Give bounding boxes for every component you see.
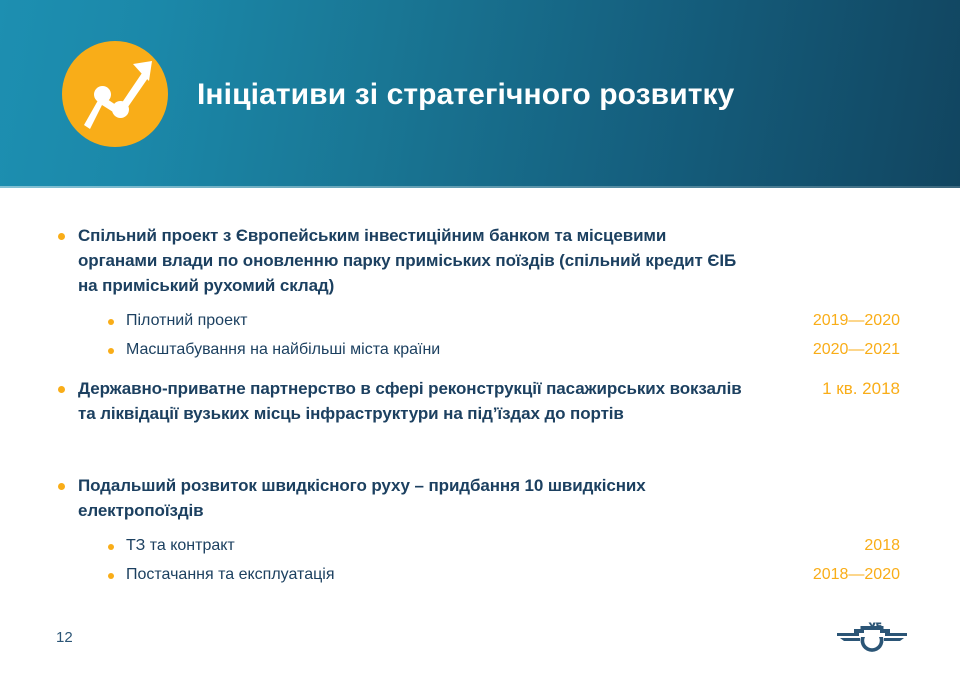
- bullet-dot-icon: [58, 386, 65, 393]
- bullet-level2-date: 2019—2020: [750, 310, 900, 332]
- bullet-level1-text: Подальший розвиток швидкісного руху – пр…: [56, 473, 750, 523]
- bullet-level1-date: 1 кв. 2018: [750, 376, 900, 401]
- bullet-level1-text: Державно-приватне партнерство в сфері ре…: [56, 376, 750, 426]
- bullet-level2-row: Постачання та експлуатація 2018—2020: [0, 564, 960, 593]
- sub-bullet-list: ТЗ та контракт 2018 Постачання та експлу…: [0, 535, 960, 593]
- bullet-level1-row: Спільний проект з Європейським інвестиці…: [0, 223, 960, 298]
- bullet-dot-icon: [58, 233, 65, 240]
- bullet-level2-row: Масштабування на найбільші міста країни …: [0, 339, 960, 368]
- bullet-group: Спільний проект з Європейським інвестиці…: [0, 223, 960, 368]
- ukrzaliznytsia-winged-wheel-logo: [836, 616, 908, 656]
- bullet-level2-date: 2018: [750, 535, 900, 557]
- presentation-slide: Ініціативи зі стратегічного розвитку Спі…: [0, 0, 960, 673]
- slide-body: Спільний проект з Європейським інвестиці…: [0, 188, 960, 673]
- bullet-level1-row: Державно-приватне партнерство в сфері ре…: [0, 376, 960, 426]
- bullet-dot-icon: [108, 319, 114, 325]
- bullet-level2-row: Пілотний проект 2019—2020: [0, 310, 960, 339]
- bullet-group: Державно-приватне партнерство в сфері ре…: [0, 376, 960, 426]
- bullet-level1-row: Подальший розвиток швидкісного руху – пр…: [0, 473, 960, 523]
- bullet-level2-text: Масштабування на найбільші міста країни: [106, 339, 750, 361]
- bullet-dot-icon: [108, 348, 114, 354]
- bullet-group: Подальший розвиток швидкісного руху – пр…: [0, 473, 960, 593]
- bullet-level2-text: Пілотний проект: [106, 310, 750, 332]
- bullet-level2-date: 2020—2021: [750, 339, 900, 361]
- bullet-dot-icon: [58, 483, 65, 490]
- bullet-level2-text: ТЗ та контракт: [106, 535, 750, 557]
- bullet-dot-icon: [108, 544, 114, 550]
- sub-bullet-list: Пілотний проект 2019—2020 Масштабування …: [0, 310, 960, 368]
- bullet-level1-text: Спільний проект з Європейським інвестиці…: [56, 223, 750, 298]
- bullet-dot-icon: [108, 573, 114, 579]
- bullet-level2-row: ТЗ та контракт 2018: [0, 535, 960, 564]
- page-title: Ініціативи зі стратегічного розвитку: [197, 76, 917, 114]
- page-number: 12: [56, 629, 73, 646]
- bullet-level2-date: 2018—2020: [750, 564, 900, 586]
- slide-header-band: Ініціативи зі стратегічного розвитку: [0, 0, 960, 188]
- bullet-level2-text: Постачання та експлуатація: [106, 564, 750, 586]
- growth-arrow-icon: [62, 41, 168, 147]
